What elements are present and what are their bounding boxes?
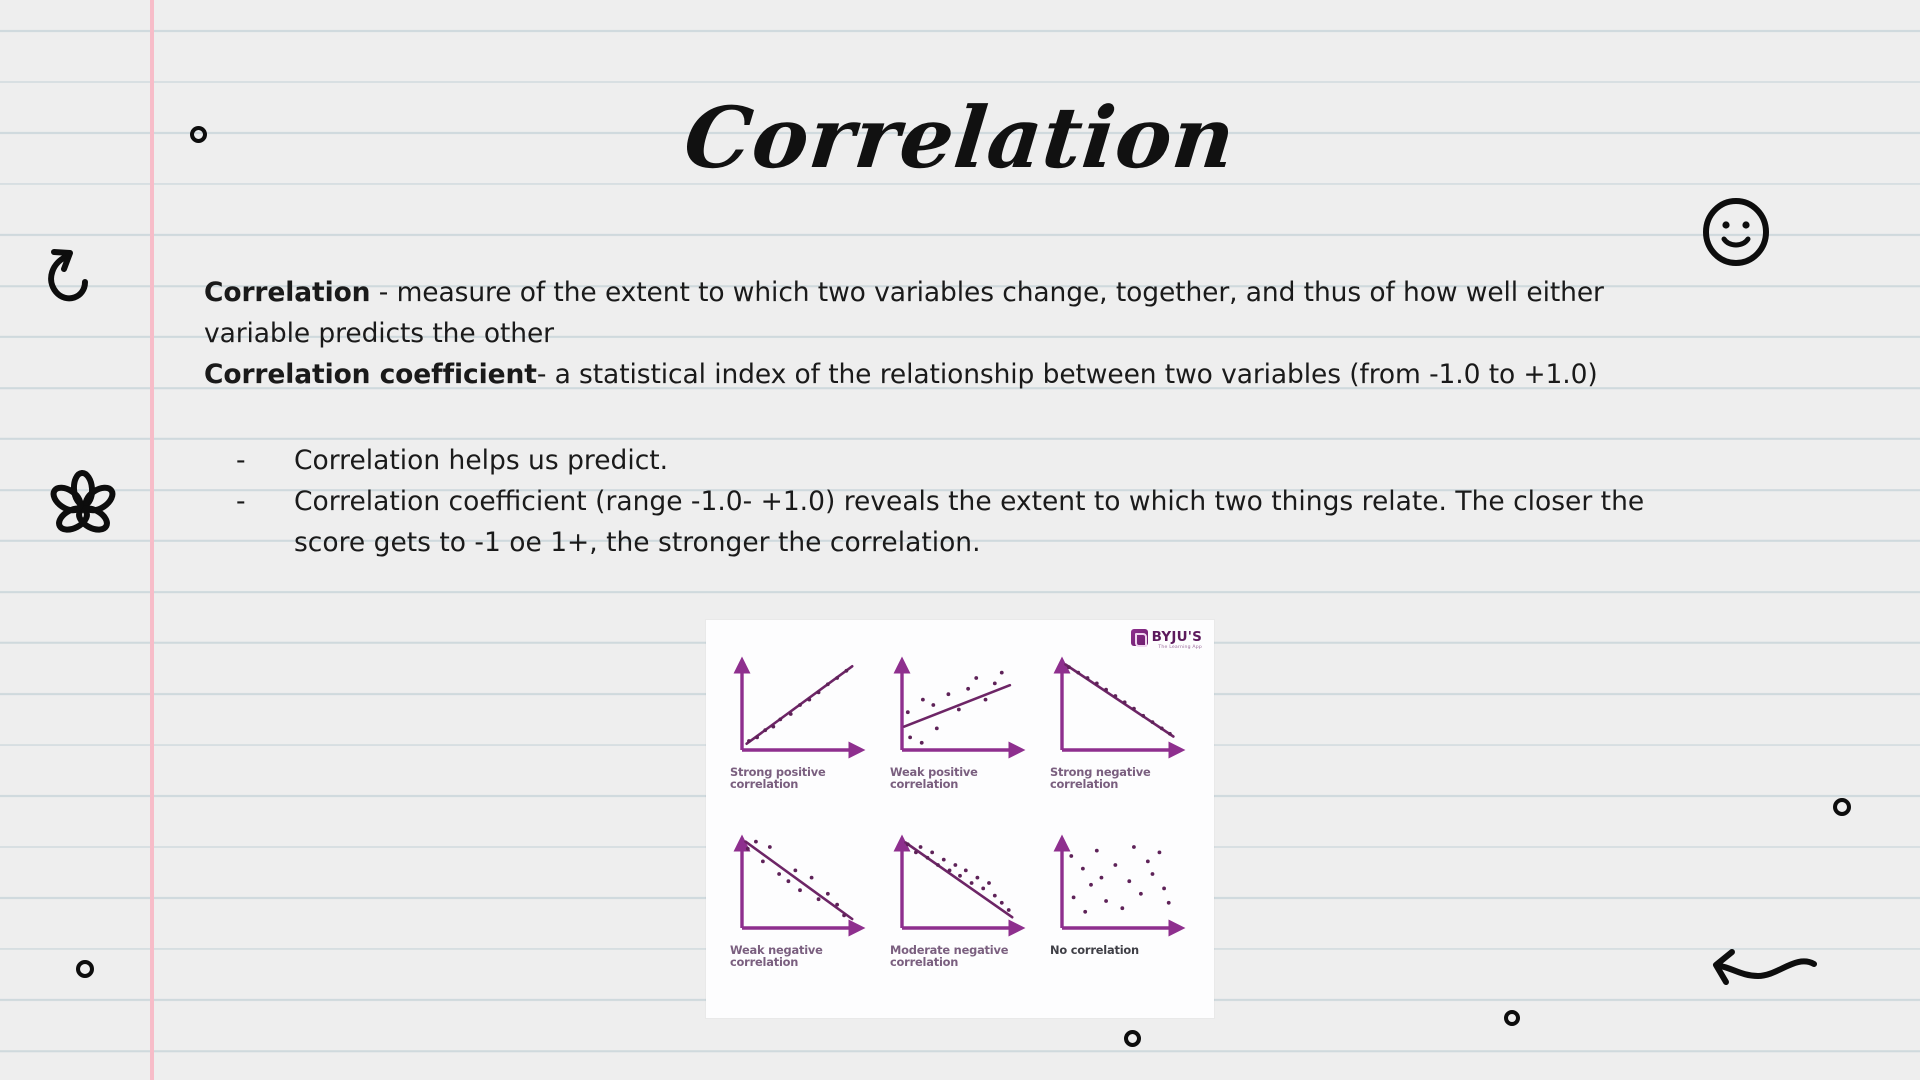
data-point	[1120, 906, 1124, 910]
scatter-plot	[728, 654, 868, 766]
data-point	[953, 863, 957, 867]
data-point	[793, 869, 797, 873]
correlation-panel: Strong negative correlation	[1040, 650, 1200, 828]
bullet-dash-marker: -	[236, 481, 294, 522]
data-point	[835, 903, 839, 907]
data-point	[966, 687, 970, 691]
definition-coefficient-term: Correlation coefficient	[204, 359, 537, 390]
correlation-panel-grid: Strong positive correlationWeak positive…	[720, 650, 1200, 1006]
data-point	[810, 876, 814, 880]
data-point	[981, 887, 985, 891]
panel-caption: No correlation	[1050, 944, 1196, 956]
list-item-text: Correlation coefficient (range -1.0- +1.…	[294, 481, 1716, 563]
data-point	[1158, 851, 1162, 855]
data-point	[1132, 707, 1136, 711]
data-point	[1151, 720, 1155, 724]
data-point	[771, 725, 775, 729]
data-point	[835, 676, 839, 680]
scatter-plot	[1048, 654, 1188, 766]
data-point	[976, 876, 980, 880]
panel-caption: Moderate negative correlation	[890, 944, 1036, 968]
scatter-plot	[888, 832, 1028, 944]
data-point	[1007, 908, 1011, 912]
data-point	[1127, 879, 1131, 883]
data-point	[1113, 694, 1117, 698]
correlation-panel: No correlation	[1040, 828, 1200, 1006]
data-point	[842, 914, 846, 918]
data-point	[778, 718, 782, 722]
data-point	[1113, 863, 1117, 867]
data-point	[1081, 867, 1085, 871]
data-point	[789, 712, 793, 716]
panel-caption: Strong negative correlation	[1050, 766, 1196, 790]
smiley-face-doodle-icon	[1700, 196, 1772, 268]
data-point	[826, 892, 830, 896]
correlation-panel: Moderate negative correlation	[880, 828, 1040, 1006]
data-point	[935, 727, 939, 731]
flower-doodle-icon	[50, 470, 116, 540]
small-circle-dot-icon	[1833, 798, 1851, 816]
data-point	[768, 845, 772, 849]
data-point	[984, 698, 988, 702]
byjus-logo-mark-icon	[1131, 629, 1148, 646]
scatter-plot	[888, 654, 1028, 766]
panel-caption: Strong positive correlation	[730, 766, 876, 790]
correlation-panel: Strong positive correlation	[720, 650, 880, 828]
data-point	[957, 708, 961, 712]
data-point	[755, 736, 759, 740]
data-point	[1089, 883, 1093, 887]
data-point	[1086, 676, 1090, 680]
data-point	[908, 736, 912, 740]
data-point	[926, 856, 930, 860]
notebook-page: Correlation Correlation - measure of the…	[0, 0, 1920, 1080]
data-point	[798, 703, 802, 707]
data-point	[777, 872, 781, 876]
list-item: - Correlation helps us predict.	[236, 440, 1716, 481]
small-circle-dot-icon	[190, 126, 207, 143]
trend-line	[905, 843, 1012, 918]
data-point	[1000, 671, 1004, 675]
data-point	[807, 698, 811, 702]
data-point	[936, 863, 940, 867]
scatter-plot	[1048, 832, 1188, 944]
list-item: - Correlation coefficient (range -1.0- +…	[236, 481, 1716, 563]
definition-correlation: Correlation - measure of the extent to w…	[204, 272, 1704, 354]
data-point	[746, 847, 750, 851]
list-item-text: Correlation helps us predict.	[294, 440, 1716, 481]
data-point	[845, 669, 849, 673]
data-point	[1072, 896, 1076, 900]
data-point	[1160, 727, 1164, 731]
data-point	[987, 881, 991, 885]
data-point	[993, 894, 997, 898]
data-point	[817, 691, 821, 695]
data-point	[1104, 688, 1108, 692]
panel-caption: Weak positive correlation	[890, 766, 1036, 790]
data-point	[964, 869, 968, 873]
data-point	[1167, 901, 1171, 905]
data-point	[1076, 671, 1080, 675]
byjus-logo-wordmark: BYJU'S	[1152, 631, 1202, 645]
data-point	[817, 897, 821, 901]
small-circle-dot-icon	[76, 960, 94, 978]
definition-correlation-text: - measure of the extent to which two var…	[204, 277, 1604, 349]
small-circle-dot-icon	[1124, 1030, 1141, 1047]
definition-coefficient-text: - a statistical index of the relationshi…	[537, 359, 1598, 390]
data-point	[919, 845, 923, 849]
panel-caption: Weak negative correlation	[730, 944, 876, 968]
data-point	[1000, 901, 1004, 905]
curved-arrow-up-right-icon	[40, 236, 100, 306]
data-point	[914, 851, 918, 855]
data-point	[826, 682, 830, 686]
notes-bullet-list: - Correlation helps us predict. - Correl…	[236, 440, 1716, 563]
data-point	[948, 869, 952, 873]
definition-block: Correlation - measure of the extent to w…	[204, 272, 1704, 395]
scatter-plot	[728, 832, 868, 944]
data-point	[931, 703, 935, 707]
data-point	[1069, 854, 1073, 858]
page-title: Correlation	[0, 96, 1920, 180]
data-point	[754, 840, 758, 844]
byjus-logo: BYJU'S The Learning App	[1131, 629, 1202, 646]
data-point	[1168, 732, 1172, 736]
trend-line	[1065, 665, 1173, 737]
definition-correlation-coefficient: Correlation coefficient- a statistical i…	[204, 354, 1704, 395]
data-point	[1095, 849, 1099, 853]
trend-line	[745, 842, 852, 919]
data-point	[1083, 910, 1087, 914]
data-point	[906, 710, 910, 714]
data-point	[1104, 899, 1108, 903]
data-point	[942, 858, 946, 862]
correlation-panel: Weak positive correlation	[880, 650, 1040, 828]
data-point	[958, 874, 962, 878]
data-point	[1162, 887, 1166, 891]
data-point	[798, 888, 802, 892]
data-point	[787, 879, 791, 883]
data-point	[906, 842, 910, 846]
data-point	[974, 676, 978, 680]
data-point	[1141, 714, 1145, 718]
data-point	[1067, 665, 1071, 669]
definition-correlation-term: Correlation	[204, 277, 370, 308]
data-point	[1139, 892, 1143, 896]
data-point	[1123, 700, 1127, 704]
data-point	[1095, 682, 1099, 686]
data-point	[970, 881, 974, 885]
wavy-arrow-left-icon	[1700, 946, 1820, 998]
small-circle-dot-icon	[1504, 1010, 1520, 1026]
data-point	[1151, 872, 1155, 876]
data-point	[763, 728, 767, 732]
data-point	[920, 741, 924, 745]
correlation-panel: Weak negative correlation	[720, 828, 880, 1006]
data-point	[747, 739, 751, 743]
data-point	[1100, 876, 1104, 880]
data-point	[921, 698, 925, 702]
data-point	[947, 692, 951, 696]
data-point	[993, 682, 997, 686]
bullet-dash-marker: -	[236, 440, 294, 481]
correlation-types-figure: BYJU'S The Learning App Strong positive …	[706, 620, 1214, 1018]
data-point	[1146, 860, 1150, 864]
data-point	[1132, 845, 1136, 849]
trend-line	[904, 685, 1010, 726]
data-point	[930, 851, 934, 855]
data-point	[761, 860, 765, 864]
